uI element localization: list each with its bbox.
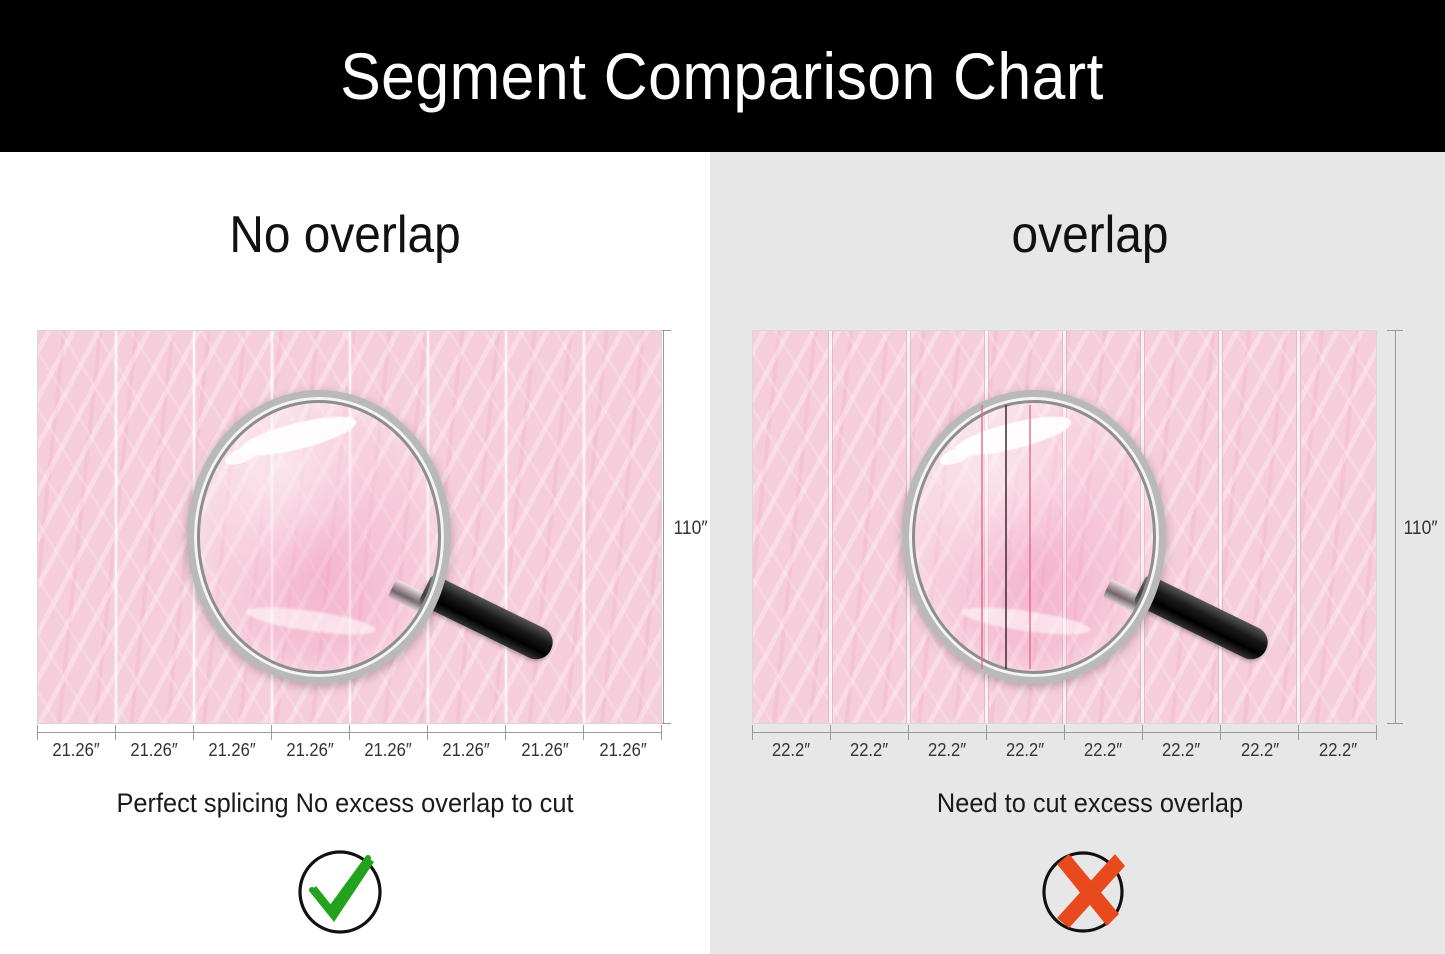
- dimension-tick: [1064, 725, 1065, 740]
- right-mural-image: [752, 330, 1377, 724]
- seam-line: [115, 330, 117, 724]
- left-height-label: 110″: [673, 518, 707, 540]
- dimension-tick: [752, 725, 753, 740]
- dimension-line: [663, 330, 664, 724]
- dimension-tick: [505, 725, 506, 740]
- magnifier-lens: [187, 390, 451, 684]
- dimension-tick: [1387, 723, 1403, 724]
- dimension-tick: [830, 725, 831, 740]
- dimension-tick: [583, 725, 584, 740]
- segment-label: 22.2″: [1067, 740, 1139, 761]
- dimension-tick: [115, 725, 116, 740]
- dimension-tick: [1387, 330, 1403, 331]
- page-title: Segment Comparison Chart: [341, 38, 1105, 114]
- dimension-tick: [271, 725, 272, 740]
- left-caption: Perfect splicing No excess overlap to cu…: [21, 788, 670, 819]
- magnifier-lens: [902, 390, 1166, 684]
- segment-label: 21.26″: [40, 740, 112, 761]
- segment-label: 21.26″: [509, 740, 581, 761]
- left-mural-image: [37, 330, 662, 724]
- magnified-overlap-seam: [1005, 405, 1007, 669]
- lens-glare-lower: [960, 602, 1092, 640]
- segment-label: 21.26″: [196, 740, 268, 761]
- right-caption: Need to cut excess overlap: [761, 788, 1419, 819]
- segment-comparison-chart-page: Segment Comparison Chart No overlap over…: [0, 0, 1445, 954]
- segment-label: 22.2″: [911, 740, 983, 761]
- dimension-tick: [193, 725, 194, 740]
- dimension-tick: [655, 330, 671, 331]
- overlap-seam-line: [828, 330, 833, 724]
- segment-label: 22.2″: [755, 740, 827, 761]
- left-segment-labels: 21.26″ 21.26″ 21.26″ 21.26″ 21.26″ 21.26…: [37, 740, 662, 761]
- right-segment-labels: 22.2″ 22.2″ 22.2″ 22.2″ 22.2″ 22.2″ 22.2…: [752, 740, 1377, 761]
- right-height-label: 110″: [1403, 518, 1437, 540]
- dimension-tick: [349, 725, 350, 740]
- dimension-tick: [655, 723, 671, 724]
- segment-label: 22.2″: [1224, 740, 1296, 761]
- dimension-line: [1395, 330, 1396, 724]
- segment-label: 21.26″: [352, 740, 424, 761]
- seam-line: [583, 330, 585, 724]
- dimension-tick: [986, 725, 987, 740]
- segment-label: 22.2″: [833, 740, 905, 761]
- dimension-tick: [908, 725, 909, 740]
- dimension-tick: [427, 725, 428, 740]
- left-panel-heading: No overlap: [28, 205, 663, 265]
- magnified-overlap-seam: [1029, 405, 1031, 669]
- lens-glare-secondary: [938, 444, 975, 469]
- segment-label: 22.2″: [1302, 740, 1374, 761]
- segment-label: 21.26″: [431, 740, 503, 761]
- left-height-dimension-line: [654, 330, 672, 724]
- dimension-tick: [1376, 725, 1377, 740]
- dimension-tick: [1142, 725, 1143, 740]
- magnified-overlap-seam: [981, 405, 983, 669]
- cross-mark-icon: [1035, 840, 1135, 940]
- dimension-tick: [661, 725, 662, 740]
- segment-label: 22.2″: [1146, 740, 1218, 761]
- right-height-dimension-line: [1386, 330, 1404, 724]
- lens-glare-secondary: [223, 444, 260, 469]
- segment-label: 21.26″: [118, 740, 190, 761]
- check-mark-icon: [290, 840, 390, 940]
- overlap-seam-line: [1296, 330, 1301, 724]
- dimension-tick: [37, 725, 38, 740]
- dimension-tick: [1220, 725, 1221, 740]
- segment-label: 21.26″: [587, 740, 659, 761]
- segment-label: 21.26″: [274, 740, 346, 761]
- right-panel-heading: overlap: [768, 205, 1412, 265]
- title-banner: Segment Comparison Chart: [0, 0, 1445, 152]
- segment-label: 22.2″: [989, 740, 1061, 761]
- lens-glare-lower: [245, 602, 377, 640]
- dimension-tick: [1298, 725, 1299, 740]
- seam-line: [505, 330, 507, 724]
- overlap-seam-line: [1218, 330, 1223, 724]
